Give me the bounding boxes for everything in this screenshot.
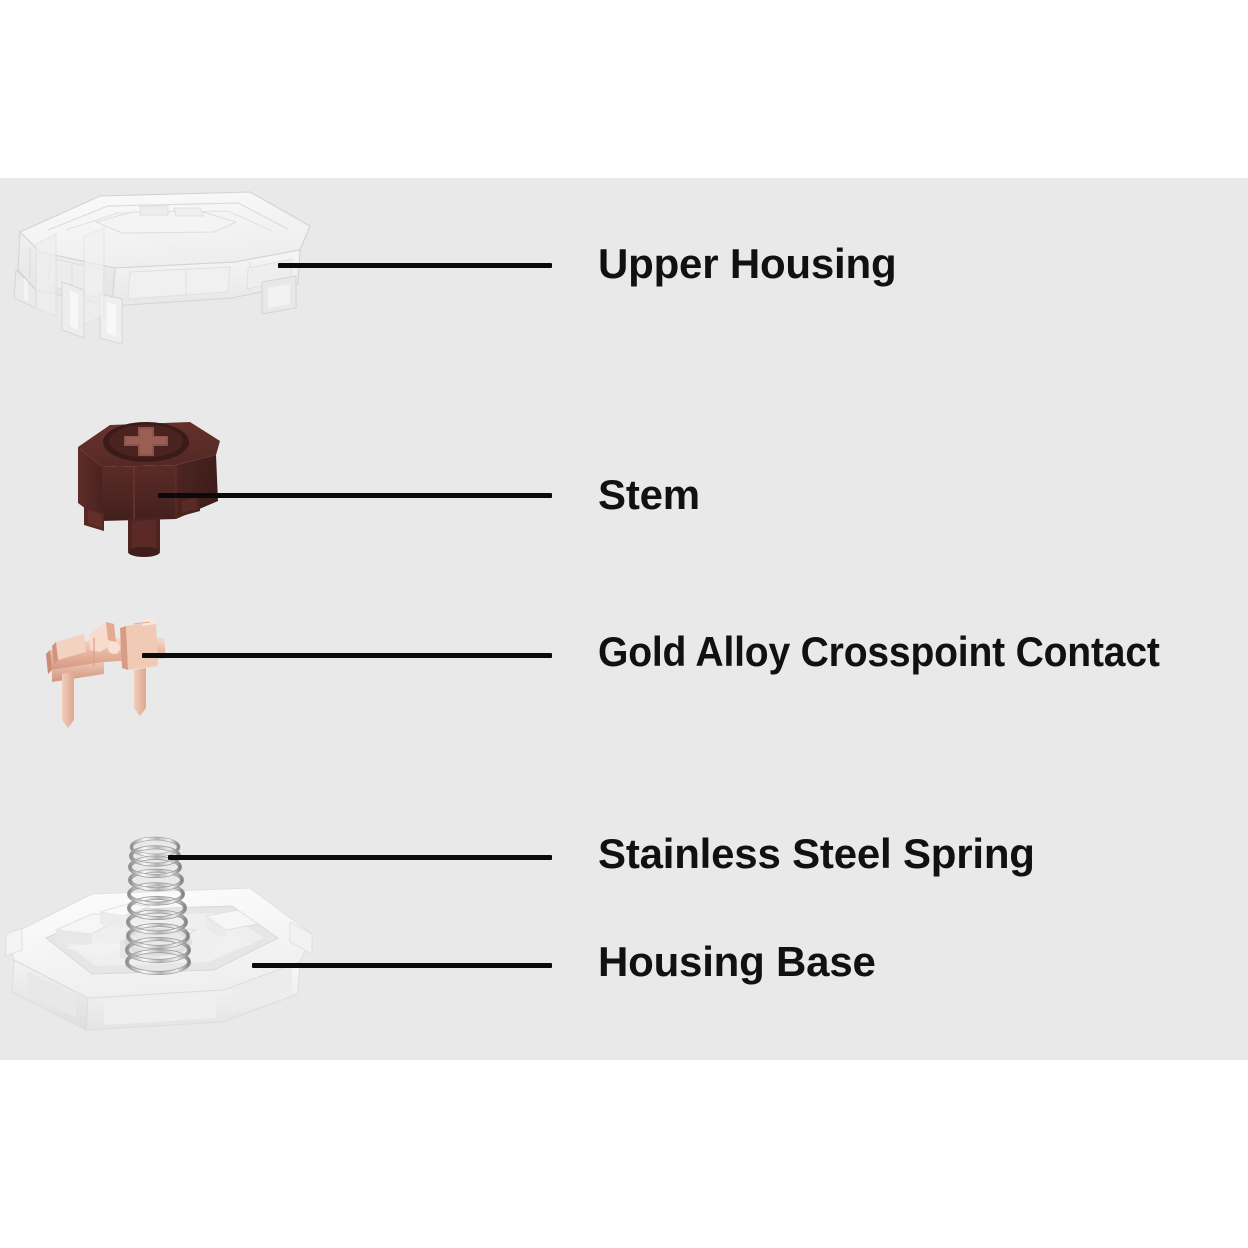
leader-line-upper-housing xyxy=(278,263,552,268)
label-gold-alloy-crosspoint-contact: Gold Alloy Crosspoint Contact xyxy=(598,631,1160,673)
part-housing-base xyxy=(0,838,330,1058)
diagram-canvas: Upper Housing Stem Gold Alloy Crosspoint… xyxy=(0,0,1248,1248)
leader-line-housing-base xyxy=(252,963,552,968)
leader-line-stem xyxy=(158,493,552,498)
label-upper-housing: Upper Housing xyxy=(598,243,896,285)
leader-line-gold-alloy-crosspoint-contact xyxy=(142,653,552,658)
label-stem: Stem xyxy=(598,474,700,516)
part-gold-alloy-crosspoint-contact xyxy=(38,608,228,738)
label-stainless-steel-spring: Stainless Steel Spring xyxy=(598,833,1035,875)
leader-line-stainless-steel-spring xyxy=(168,855,552,860)
label-housing-base: Housing Base xyxy=(598,941,876,983)
